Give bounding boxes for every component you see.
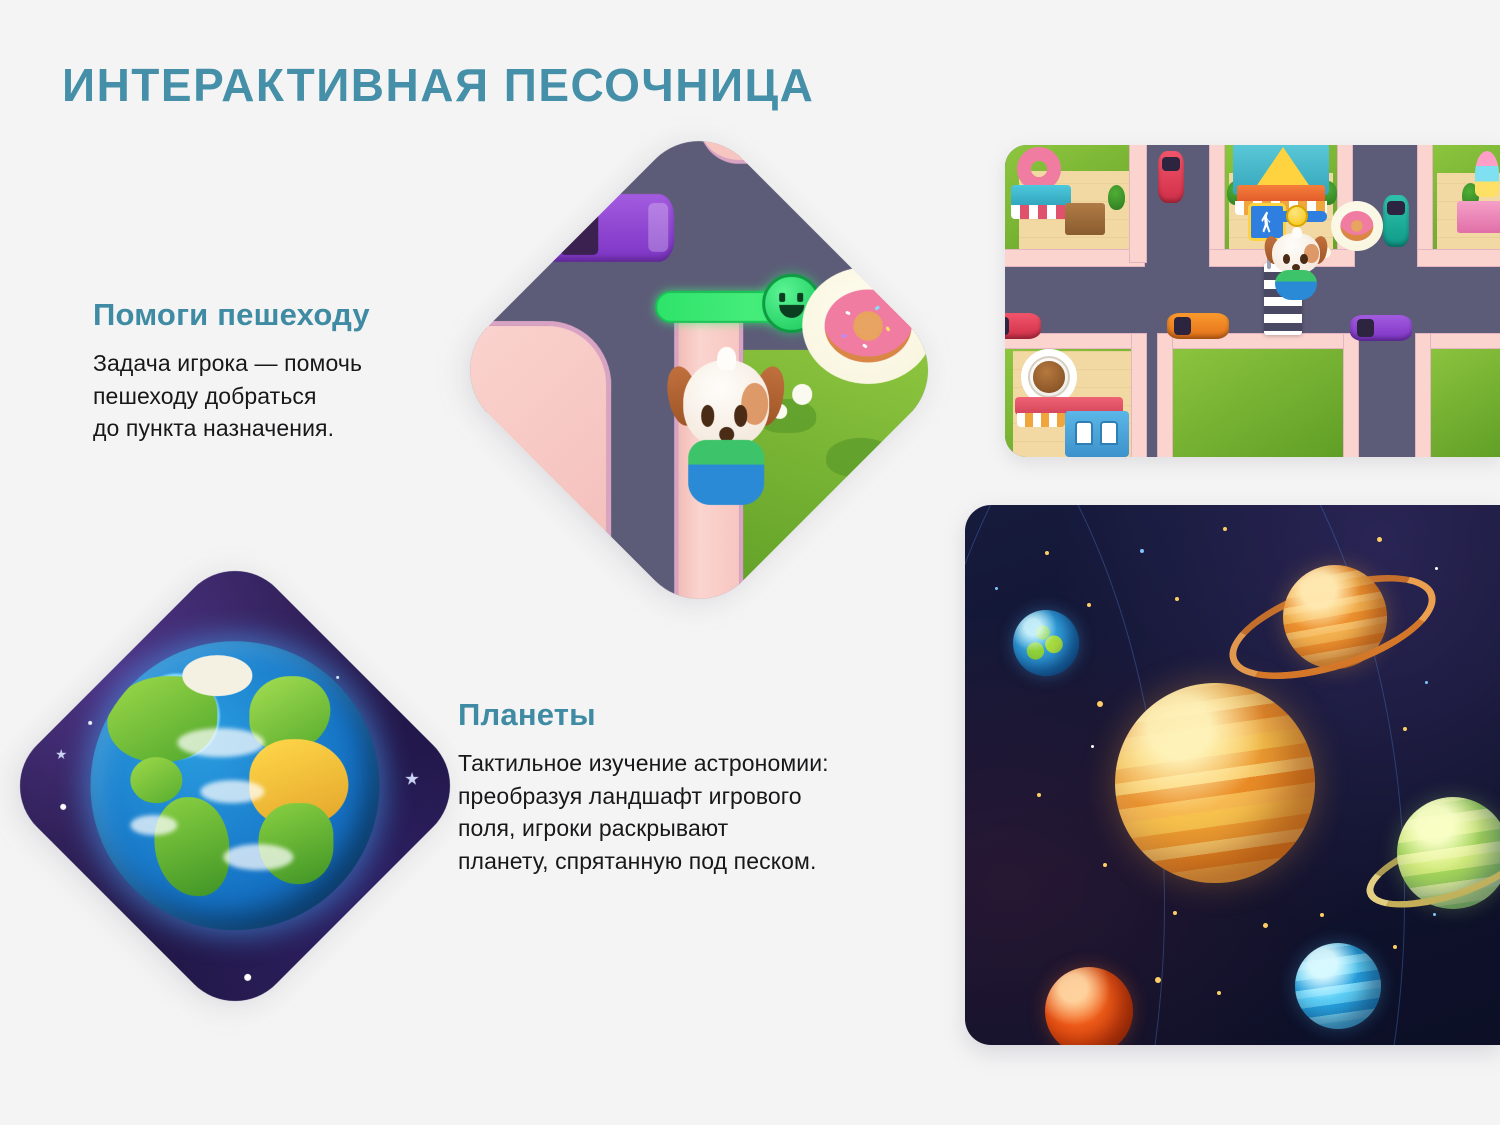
dog-body: [1275, 270, 1316, 300]
dog-character: [675, 360, 778, 502]
smiley-eye-left: [779, 293, 785, 301]
bush-icon: [826, 439, 895, 478]
star: [1037, 793, 1041, 797]
star: [1263, 923, 1268, 928]
orange-car-icon: [1167, 313, 1229, 339]
sidewalk: [1131, 333, 1147, 457]
star: [244, 974, 251, 981]
feature-block-planets: Планеты Тактильное изучение астрономии: …: [458, 698, 928, 878]
pedestrian-scene: [454, 125, 944, 615]
star: [1393, 945, 1397, 949]
planets-space-scene: [965, 505, 1500, 1045]
star: [1433, 913, 1436, 916]
feature-heading-planets: Планеты: [458, 698, 928, 732]
smiley-mouth: [779, 305, 804, 319]
dog-eye-right: [1300, 254, 1307, 264]
thought-bubble: [1331, 201, 1383, 251]
sprinkle: [845, 310, 851, 314]
star-shape-icon: [56, 749, 67, 760]
sidewalk-corner: [444, 321, 610, 615]
star: [1091, 745, 1094, 748]
sidewalk: [1343, 333, 1359, 457]
sidewalk: [1157, 333, 1173, 457]
feature-heading-pedestrian: Помоги пешеходу: [93, 298, 453, 332]
cloud: [131, 815, 177, 835]
sprinkle: [875, 306, 880, 311]
star: [88, 722, 92, 726]
teal-car-icon: [1383, 195, 1409, 247]
feature-body-pedestrian: Задача игрока — помочь пешеходу добратьс…: [93, 347, 453, 445]
donut-icon: [1340, 211, 1373, 241]
thought-bubble: [802, 267, 934, 385]
star: [1045, 551, 1049, 555]
building-window: [1075, 421, 1093, 445]
star: [1403, 727, 1407, 731]
donut-hole: [857, 316, 880, 335]
donut-shop-roof: [1011, 185, 1071, 207]
sidewalk: [1417, 249, 1500, 267]
star-shape-icon: [405, 772, 419, 786]
ice-cream-stand: [1457, 201, 1500, 233]
earth-globe-diamond-tile: [66, 617, 404, 955]
city-map-gameplay: [1005, 145, 1500, 457]
cloud: [223, 844, 292, 870]
car-window: [1387, 201, 1405, 215]
star: [1223, 527, 1227, 531]
market-stall: [1065, 203, 1105, 235]
city-block: [1423, 341, 1500, 457]
star: [1320, 913, 1324, 917]
pedestrian-game-diamond-tile: [519, 190, 879, 550]
city-block: [1165, 341, 1351, 457]
sidewalk: [1129, 145, 1147, 263]
star: [1155, 977, 1161, 983]
dog-hair-tuft: [718, 347, 737, 370]
red-car-icon: [1005, 313, 1041, 339]
earth-globe: [90, 641, 380, 931]
purple-car-icon: [528, 194, 675, 263]
diamond-clip: [444, 115, 953, 624]
star: [1175, 597, 1179, 601]
car-window: [1162, 157, 1180, 171]
dog-body: [688, 440, 764, 505]
cloud: [177, 728, 264, 757]
dog-eye-left: [1283, 254, 1290, 264]
building-window: [1100, 421, 1118, 445]
sprinkle: [886, 326, 891, 332]
sidewalk: [1415, 333, 1431, 457]
star-shape-icon: [309, 956, 322, 969]
continent-south-america: [154, 798, 229, 896]
feature-block-pedestrian: Помоги пешеходу Задача игрока — помочь п…: [93, 298, 453, 445]
tree-icon: [1108, 185, 1125, 210]
continent-central-america: [131, 757, 183, 803]
earth-scene: [5, 556, 465, 1016]
star: [1425, 681, 1428, 684]
sidewalk: [1209, 145, 1225, 265]
star: [1173, 911, 1177, 915]
red-planet: [1045, 967, 1133, 1045]
ice-cream-icon: [1475, 151, 1499, 197]
purple-car-icon: [1350, 315, 1412, 341]
car-window: [1005, 317, 1009, 335]
star-shape-icon: [345, 915, 357, 927]
sidewalk: [1005, 249, 1145, 267]
earth-like-planet: [1013, 610, 1079, 676]
page-title: ИНТЕРАКТИВНАЯ ПЕСОЧНИЦА: [62, 58, 814, 112]
shop-awning: [1017, 413, 1065, 427]
smiley-eye-right: [797, 293, 803, 301]
star: [47, 841, 54, 848]
blue-planet: [1295, 943, 1381, 1029]
star: [1377, 537, 1382, 542]
star: [1435, 567, 1438, 570]
smiley-face-icon: [1286, 205, 1308, 227]
red-car-icon: [1158, 151, 1184, 203]
donut-hole: [1353, 222, 1362, 230]
sprinkle: [862, 344, 868, 349]
star: [1087, 603, 1091, 607]
dog-character: [1268, 233, 1324, 299]
star: [336, 676, 339, 679]
star: [995, 587, 998, 590]
car-window: [1174, 317, 1190, 335]
sidewalk: [1417, 145, 1433, 265]
jupiter-planet: [1115, 683, 1315, 883]
star: [1103, 863, 1107, 867]
star: [1097, 701, 1103, 707]
star: [400, 860, 404, 864]
star: [1140, 549, 1144, 553]
sprinkle: [841, 334, 846, 338]
star: [1217, 991, 1221, 995]
donut-icon: [824, 290, 911, 363]
dog-hair-tuft: [1292, 227, 1302, 238]
feature-body-planets: Тактильное изучение астрономии: преобраз…: [458, 747, 928, 878]
dog-figure: [1268, 233, 1324, 299]
car-window: [1357, 319, 1373, 337]
star: [60, 804, 66, 810]
slide-root: ИНТЕРАКТИВНАЯ ПЕСОЧНИЦА Помоги пешеходу …: [0, 0, 1500, 1125]
polar-ice-cap: [183, 656, 252, 697]
diamond-clip: [0, 547, 474, 1025]
shop-awning: [1011, 205, 1071, 219]
